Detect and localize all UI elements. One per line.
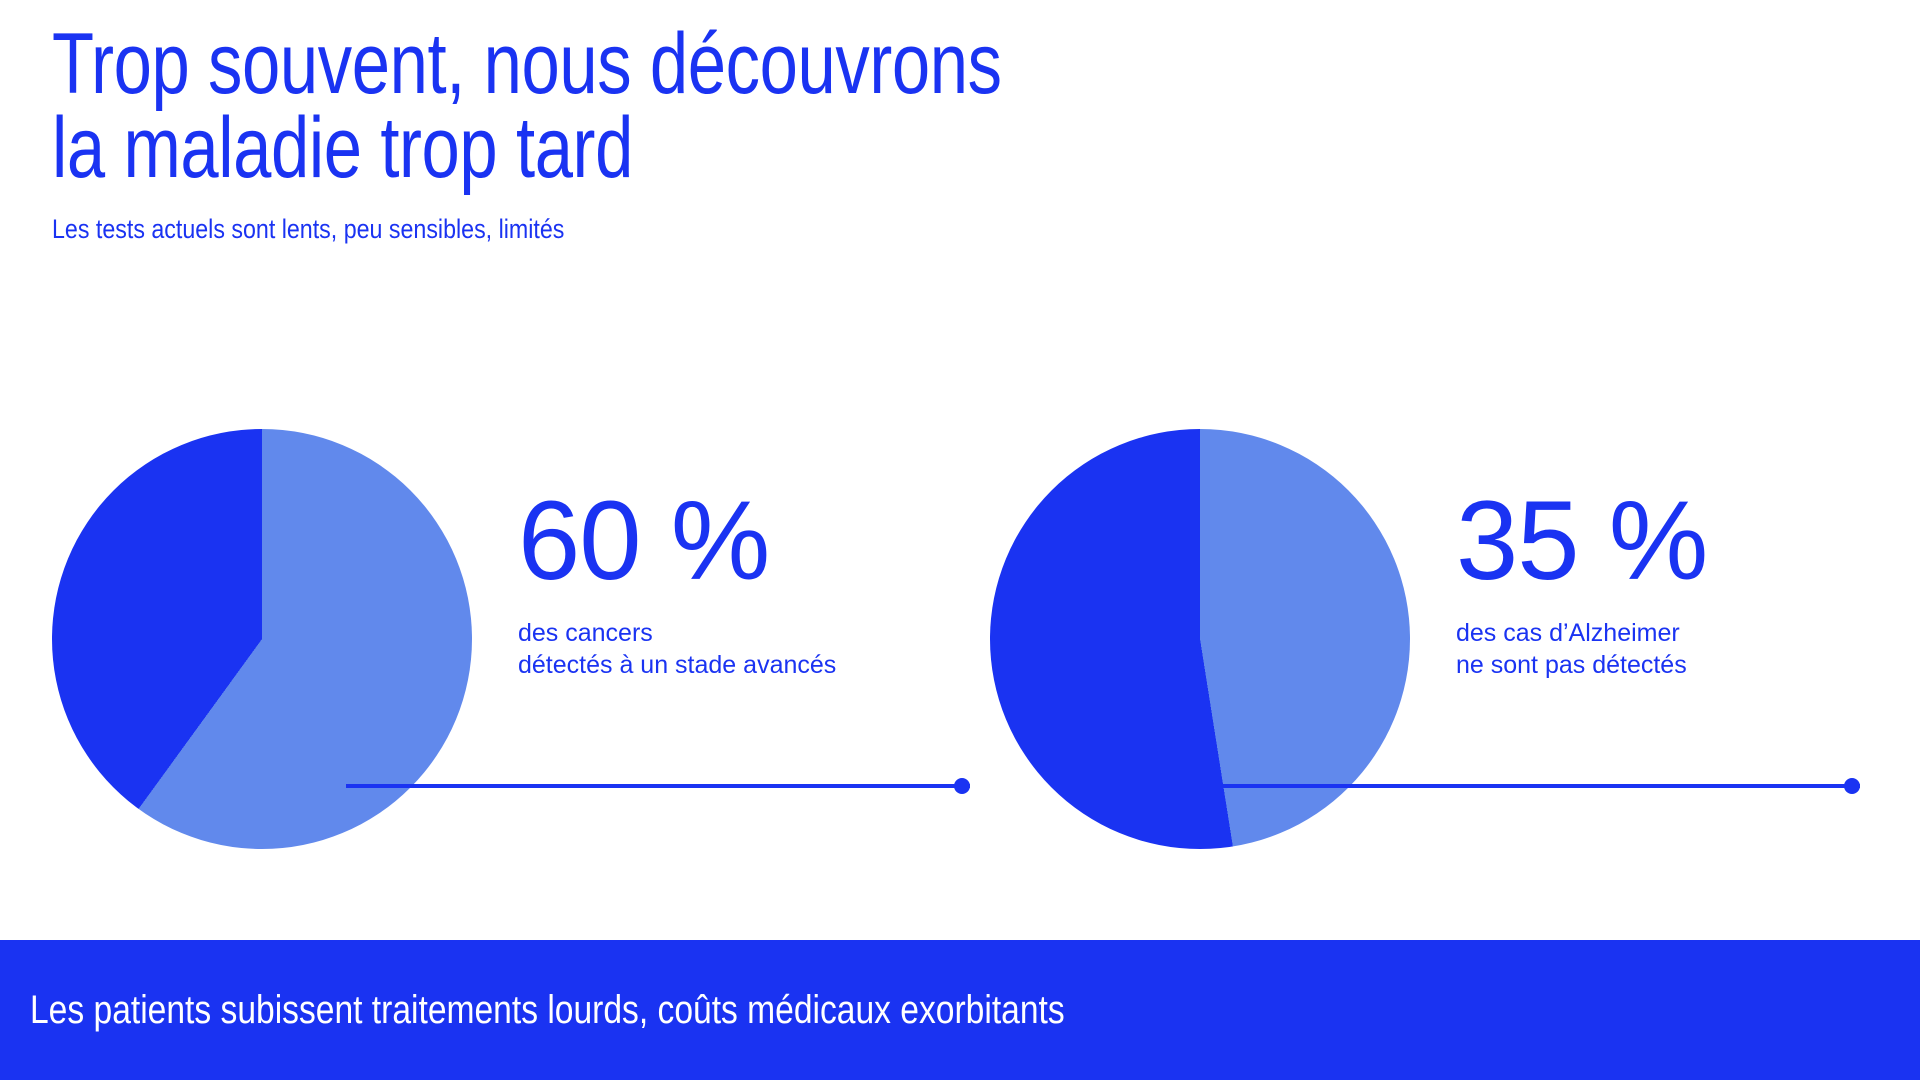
connector-line-cancers [346,778,970,794]
stat-text-cancers: 60 % des cancers détectés à un stade ava… [518,485,948,681]
connector-line-alzheimer [1200,778,1860,794]
stats-section: 60 % des cancers détectés à un stade ava… [0,415,1920,865]
page-subtitle: Les tests actuels sont lents, peu sensib… [52,213,1256,245]
connector-rule [1200,784,1860,788]
slide-header: Trop souvent, nous découvrons la maladie… [52,22,1452,245]
stat-percent-cancers: 60 % [518,485,948,597]
stat-percent-alzheimer: 35 % [1456,485,1886,597]
stat-text-alzheimer: 35 % des cas d’Alzheimer ne sont pas dét… [1456,485,1886,681]
connector-dot-icon [954,778,970,794]
stat-block-alzheimer: 35 % des cas d’Alzheimer ne sont pas dét… [990,415,1890,865]
bottom-banner: Les patients subissent traitements lourd… [0,940,1920,1080]
connector-dot-icon [1844,778,1860,794]
bottom-banner-text: Les patients subissent traitements lourd… [30,988,1065,1032]
stat-block-cancers: 60 % des cancers détectés à un stade ava… [52,415,952,865]
stat-caption-cancers: des cancers détectés à un stade avancés [518,617,948,681]
slide-root: Trop souvent, nous découvrons la maladie… [0,0,1920,1080]
stat-caption-alzheimer: des cas d’Alzheimer ne sont pas détectés [1456,617,1886,681]
page-title: Trop souvent, nous découvrons la maladie… [52,22,1172,191]
connector-rule [346,784,970,788]
